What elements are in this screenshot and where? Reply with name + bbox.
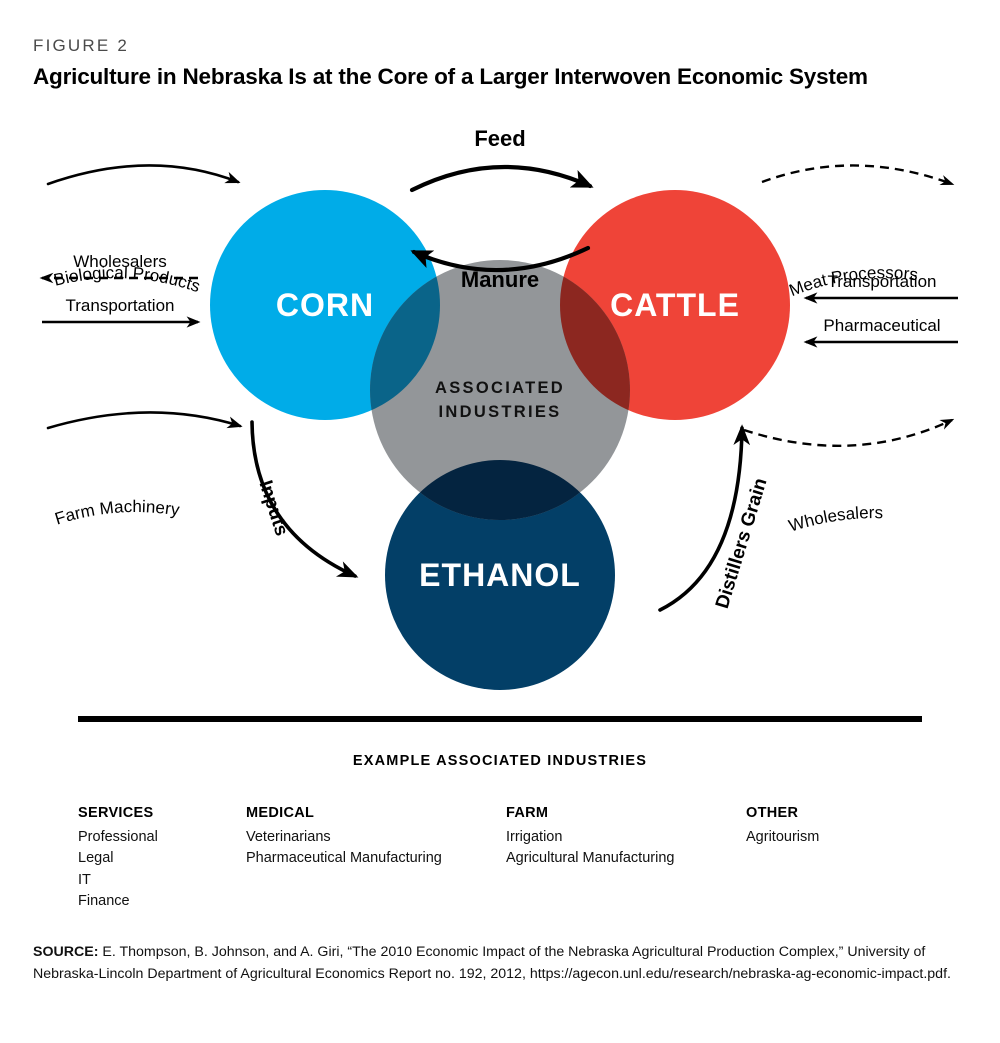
section-divider: [78, 716, 922, 722]
industry-column-medical: MEDICAL Veterinarians Pharmaceutical Man…: [246, 803, 506, 913]
industry-item: Legal: [78, 848, 246, 870]
industry-item: Agricultural Manufacturing: [506, 848, 746, 870]
industry-item: Professional: [78, 827, 246, 849]
source-note: SOURCE: E. Thompson, B. Johnson, and A. …: [33, 941, 973, 985]
circle-group: [210, 190, 790, 690]
flow-label-farm-machinery: Farm Machinery: [53, 497, 182, 529]
industry-column-other: OTHER Agritourism: [746, 803, 936, 913]
industry-column-services: SERVICES Professional Legal IT Finance: [78, 803, 246, 913]
figure-page: FIGURE 2 Agriculture in Nebraska Is at t…: [0, 0, 1000, 1043]
arrow-feed: [412, 167, 590, 190]
flow-label-inputs: Inputs: [254, 478, 292, 539]
page-title: Agriculture in Nebraska Is at the Core o…: [33, 64, 868, 90]
source-text: E. Thompson, B. Johnson, and A. Giri, “T…: [33, 944, 951, 982]
industry-column-head: FARM: [506, 803, 746, 825]
industry-column-head: SERVICES: [78, 803, 246, 825]
circle-label-ethanol: ETHANOL: [419, 557, 581, 593]
industry-item: Irrigation: [506, 827, 746, 849]
flow-label-transportation-left: Transportation: [66, 296, 175, 315]
flow-label-wholesalers-right: Wholesalers: [786, 503, 883, 536]
arrow-farm-machinery: [48, 412, 240, 428]
industry-item: IT: [78, 870, 246, 892]
flow-label-manure: Manure: [461, 267, 539, 292]
industry-column-head: MEDICAL: [246, 803, 506, 825]
industry-item: Agritourism: [746, 827, 936, 849]
source-label: SOURCE:: [33, 944, 98, 960]
flow-label-wholesalers-left: Wholesalers: [73, 252, 167, 271]
industry-column-head: OTHER: [746, 803, 936, 825]
associated-industries-heading: EXAMPLE ASSOCIATED INDUSTRIES: [0, 753, 1000, 769]
flow-label-feed: Feed: [474, 126, 525, 151]
industry-column-farm: FARM Irrigation Agricultural Manufacturi…: [506, 803, 746, 913]
circle-label-associated-line1: ASSOCIATED: [435, 379, 565, 397]
arrow-meat-processors: [762, 165, 952, 184]
flow-label-transportation-right: Transportation: [828, 272, 937, 291]
arrow-wholesalers-right: [744, 420, 952, 446]
venn-diagram: CORN CATTLE ETHANOL ASSOCIATED INDUSTRIE…: [0, 110, 1000, 700]
circle-label-cattle: CATTLE: [610, 287, 740, 323]
industry-item: Finance: [78, 891, 246, 913]
circle-label-corn: CORN: [276, 287, 374, 323]
arrow-biological-products: [48, 165, 238, 184]
industry-item: Pharmaceutical Manufacturing: [246, 848, 506, 870]
industry-item: Veterinarians: [246, 827, 506, 849]
associated-industries-columns: SERVICES Professional Legal IT Finance M…: [78, 803, 938, 913]
flow-label-pharmaceutical: Pharmaceutical: [823, 316, 940, 335]
figure-kicker: FIGURE 2: [33, 36, 129, 56]
circle-label-associated-line2: INDUSTRIES: [439, 403, 562, 421]
